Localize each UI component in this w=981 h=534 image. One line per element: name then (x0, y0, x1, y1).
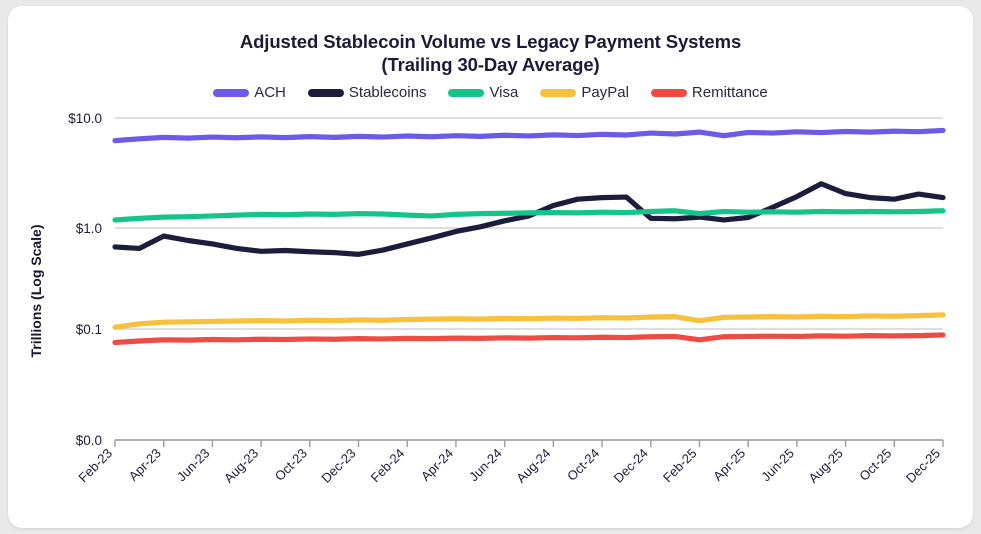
series-line-stablecoins[interactable] (115, 184, 943, 255)
ytick-label: $1.0 (76, 221, 102, 236)
ytick-label: $0.1 (76, 322, 102, 337)
xtick-label: Dec-25 (903, 446, 943, 486)
xtick-label: Feb-25 (660, 446, 700, 486)
series-line-ach[interactable] (115, 130, 943, 140)
plot-area: $10.0$1.0$0.1$0.0Trillions (Log Scale)Fe… (8, 6, 973, 528)
xtick-label: Feb-24 (368, 446, 408, 486)
xtick-label: Feb-23 (75, 446, 115, 486)
xtick-label: Jun-25 (758, 446, 797, 485)
xtick-label: Dec-24 (611, 446, 651, 486)
xtick-label: Jun-24 (466, 446, 505, 485)
xtick-label: Apr-24 (418, 446, 456, 484)
y-axis-title: Trillions (Log Scale) (28, 224, 44, 357)
ytick-label: $10.0 (68, 111, 102, 126)
xtick-label: Apr-25 (710, 446, 748, 484)
chart-svg: $10.0$1.0$0.1$0.0Trillions (Log Scale)Fe… (8, 6, 973, 528)
series-line-paypal[interactable] (115, 315, 943, 327)
chart-card: Adjusted Stablecoin Volume vs Legacy Pay… (8, 6, 973, 528)
xtick-label: Oct-25 (856, 446, 894, 484)
xtick-label: Apr-23 (126, 446, 164, 484)
chart-page: Adjusted Stablecoin Volume vs Legacy Pay… (0, 0, 981, 534)
xtick-label: Dec-23 (318, 446, 358, 486)
series-line-remittance[interactable] (115, 335, 943, 343)
xtick-label: Oct-24 (564, 446, 602, 484)
xtick-label: Aug-23 (221, 446, 261, 486)
xtick-label: Jun-23 (174, 446, 213, 485)
xtick-label: Oct-23 (272, 446, 310, 484)
ytick-label: $0.0 (76, 433, 102, 448)
xtick-label: Aug-25 (805, 446, 845, 486)
series-line-visa[interactable] (115, 211, 943, 220)
xtick-label: Aug-24 (513, 446, 553, 486)
